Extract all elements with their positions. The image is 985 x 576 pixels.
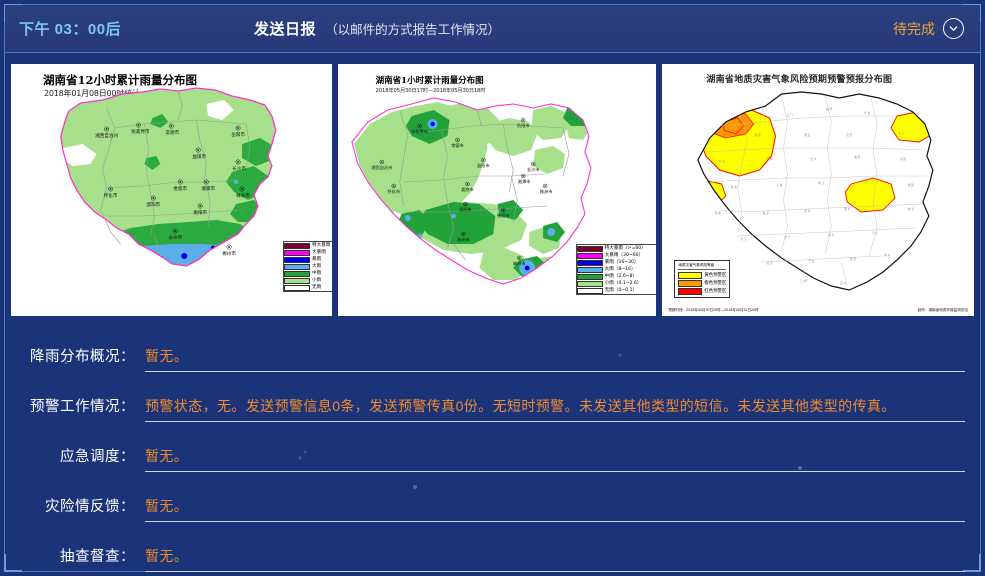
svg-text:邵阳市: 邵阳市 [459, 206, 472, 213]
disaster-feedback-field[interactable]: 暂无。 [145, 496, 965, 522]
map-legend: 特大暴雨（>=60） 大暴雨（30~60） 暴雨（16~30） 大雨（8~16）… [576, 244, 657, 295]
svg-text:常德市: 常德市 [165, 129, 179, 136]
page-title: 发送日报 [254, 18, 316, 39]
svg-text:祁 东: 祁 东 [829, 233, 835, 237]
legend-item: 中雨（2.6~8） [577, 273, 657, 280]
svg-text:株洲市: 株洲市 [540, 188, 553, 195]
legend-item: 橙色预警区 [678, 279, 726, 287]
field-value: 暂无。 [145, 448, 188, 464]
svg-text:湘西自治州: 湘西自治州 [95, 132, 118, 139]
page-subtitle: （以邮件的方式报告工作情况） [325, 19, 500, 38]
svg-text:长 沙: 长 沙 [862, 179, 868, 183]
svg-text:洪 江: 洪 江 [741, 237, 747, 241]
legend-item: 小雨 [284, 277, 332, 284]
legend-label: 小雨 [312, 278, 321, 284]
svg-text:湘 阴: 湘 阴 [855, 155, 861, 159]
map-1h-rainfall[interactable]: 湖南省1小时累计雨量分布图 2018年05月30日17时—2018年05月30日… [338, 64, 657, 316]
svg-text:湘 乡: 湘 乡 [845, 207, 851, 211]
legend-item: 黄色预警区 [678, 271, 726, 279]
chevron-down-circle-icon[interactable] [943, 18, 964, 39]
legend-label: 黄色预警区 [704, 272, 726, 278]
emergency-dispatch-field[interactable]: 暂无。 [145, 446, 965, 472]
svg-text:宁 远: 宁 远 [809, 259, 815, 263]
svg-text:永州市: 永州市 [168, 234, 182, 241]
legend-item: 小雨（0.1~2.6） [577, 280, 657, 287]
svg-text:株洲市: 株洲市 [236, 192, 250, 199]
warning-work-field[interactable]: 预警状态，无。发送预警信息0条，发送预警传真0份。无短时预警。未发送其他类型的短… [145, 396, 965, 422]
task-title-group: 发送日报 （以邮件的方式报告工作情况） [254, 18, 500, 39]
rainfall-overview-field[interactable]: 暂无。 [145, 346, 965, 372]
svg-text:怀化市: 怀化市 [387, 188, 400, 195]
form-row-spot-check: 抽查督查： 暂无。 [0, 522, 985, 572]
svg-text:新 化: 新 化 [805, 209, 811, 213]
legend-label: 红色预警区 [704, 288, 726, 294]
spot-check-field[interactable]: 暂无。 [145, 546, 965, 572]
legend-swatch [577, 253, 603, 259]
legend-swatch [577, 288, 603, 294]
legend-swatch [678, 288, 702, 295]
legend-swatch [284, 278, 310, 284]
svg-text:浏 阳: 浏 阳 [900, 157, 906, 161]
legend-label: 大雨（8~16） [605, 267, 636, 273]
svg-text:沅 陵: 沅 陵 [777, 183, 783, 187]
form-row-emergency-dispatch: 应急调度： 暂无。 [0, 422, 985, 472]
legend-swatch [678, 280, 702, 287]
svg-text:郴州市: 郴州市 [513, 260, 526, 267]
svg-text:汨 罗: 汨 罗 [847, 133, 853, 137]
svg-text:道 县: 道 县 [767, 261, 773, 265]
svg-text:新 宁: 新 宁 [785, 235, 791, 239]
legend-item: 大暴雨（30~60） [577, 252, 657, 259]
svg-text:湘潭市: 湘潭市 [518, 178, 531, 185]
legend-label: 橙色预警区 [704, 280, 726, 286]
legend-swatch [284, 243, 310, 249]
field-label: 抽查督查： [0, 545, 145, 572]
svg-text:桂 阳: 桂 阳 [851, 257, 857, 261]
legend-item: 暴雨 [284, 256, 332, 263]
legend-label: 无雨 [312, 285, 321, 291]
svg-text:邵阳市: 邵阳市 [147, 201, 161, 208]
field-label: 灾险情反馈： [0, 495, 145, 522]
svg-text:攸 县: 攸 县 [908, 207, 914, 211]
map-footer-right: 制作：湖南省地质环境监测总站 [918, 308, 968, 313]
svg-text:临 澧: 临 澧 [827, 107, 833, 111]
svg-text:娄底市: 娄底市 [173, 185, 187, 192]
legend-swatch [577, 274, 603, 280]
svg-text:慈 利: 慈 利 [767, 157, 773, 161]
legend-item: 暴雨（16~30） [577, 259, 657, 266]
legend-swatch [577, 260, 603, 266]
legend-label: 大暴雨 [312, 250, 326, 256]
svg-text:湘潭市: 湘潭市 [201, 185, 215, 192]
svg-text:蓝 山: 蓝 山 [841, 281, 847, 285]
svg-text:衡阳市: 衡阳市 [497, 212, 510, 219]
svg-text:湘西自治州: 湘西自治州 [371, 164, 392, 171]
legend-label: 无雨（0~0.1） [605, 288, 637, 294]
field-value: 暂无。 [145, 348, 188, 364]
svg-text:江 华: 江 华 [801, 279, 807, 283]
maps-strip: 湖南省12小时累计雨量分布图 2018年01月08日00时统计 [11, 64, 974, 316]
legend-swatch [678, 272, 702, 279]
legend-item: 大雨（8~16） [577, 266, 657, 273]
legend-label: 暴雨 [312, 257, 321, 263]
field-value: 预警状态，无。发送预警信息0条，发送预警传真0份。无短时预警。未发送其他类型的短… [145, 398, 896, 414]
field-label: 降雨分布概况： [0, 345, 145, 372]
svg-text:溆 浦: 溆 浦 [763, 211, 769, 215]
field-value: 暂无。 [145, 548, 188, 564]
legend-swatch [284, 271, 310, 277]
svg-text:岳阳市: 岳阳市 [231, 131, 245, 138]
svg-text:怀化市: 怀化市 [104, 192, 118, 199]
legend-label: 小雨（0.1~2.6） [605, 281, 642, 287]
legend-heading: 地质灾害气象风险等级 [678, 263, 726, 270]
task-header: 下午 03：00后 发送日报 （以邮件的方式报告工作情况） 待完成 [5, 5, 980, 53]
task-time-badge: 下午 03：00后 [19, 18, 121, 39]
map-footer-left: 预报时段：2018年05月30日20时—2018年05月31日20时 [668, 308, 758, 313]
legend-label: 中雨（2.6~8） [605, 274, 637, 280]
svg-text:澧 县: 澧 县 [805, 133, 811, 137]
legend-item: 无雨（0~0.1） [577, 287, 657, 294]
form-row-warning-work: 预警工作情况： 预警状态，无。发送预警信息0条，发送预警传真0份。无短时预警。未… [0, 372, 985, 422]
svg-text:桃 江: 桃 江 [819, 181, 825, 185]
legend-label: 特大暴雨（>=60） [605, 246, 646, 252]
map-legend: 特大暴雨 大暴雨 暴雨 大雨 中雨 小雨 无雨 [283, 241, 332, 292]
legend-item: 红色预警区 [678, 287, 726, 295]
svg-text:衡阳市: 衡阳市 [193, 209, 207, 216]
svg-text:资 兴: 资 兴 [884, 253, 890, 257]
legend-label: 暴雨（16~30） [605, 260, 639, 266]
legend-item: 特大暴雨 [284, 242, 332, 249]
svg-text:永州市: 永州市 [457, 236, 470, 243]
legend-item: 无雨 [284, 284, 332, 291]
legend-item: 特大暴雨（>=60） [577, 245, 657, 252]
svg-text:益阳市: 益阳市 [477, 162, 490, 169]
form-row-disaster-feedback: 灾险情反馈： 暂无。 [0, 472, 985, 522]
form-row-rainfall-overview: 降雨分布概况： 暂无。 [0, 322, 985, 372]
field-label: 预警工作情况： [0, 395, 145, 422]
map-legend: 地质灾害气象风险等级 黄色预警区 橙色预警区 红色预警区 [674, 260, 730, 298]
svg-text:凤 凰: 凤 凰 [715, 211, 721, 215]
svg-text:长沙市: 长沙市 [527, 166, 540, 173]
svg-text:张家界市: 张家界市 [411, 128, 428, 135]
legend-swatch [577, 267, 603, 273]
svg-text:常德市: 常德市 [451, 142, 464, 149]
legend-swatch [577, 281, 603, 287]
legend-label: 大雨 [312, 264, 321, 270]
report-form: 降雨分布概况： 暂无。 预警工作情况： 预警状态，无。发送预警信息0条，发送预警… [0, 322, 985, 572]
svg-text:益阳市: 益阳市 [192, 153, 206, 160]
status-group[interactable]: 待完成 [893, 18, 964, 39]
svg-text:岳阳市: 岳阳市 [517, 122, 530, 129]
legend-swatch [284, 285, 310, 291]
legend-item: 中雨 [284, 270, 332, 277]
legend-item: 大雨 [284, 263, 332, 270]
legend-swatch [284, 250, 310, 256]
svg-text:张家界市: 张家界市 [131, 128, 150, 135]
legend-label: 特大暴雨 [312, 243, 330, 249]
field-value: 暂无。 [145, 498, 188, 514]
legend-swatch [284, 257, 310, 263]
svg-text:安 仁: 安 仁 [872, 231, 878, 235]
legend-swatch [577, 246, 603, 252]
svg-text:石 门: 石 门 [787, 113, 793, 117]
status-badge: 待完成 [893, 19, 935, 39]
field-label: 应急调度： [0, 445, 145, 472]
map-12h-rainfall[interactable]: 湖南省12小时累计雨量分布图 2018年01月08日00时统计 [11, 64, 332, 316]
svg-text:娄底市: 娄底市 [461, 186, 474, 193]
svg-text:桑 植: 桑 植 [755, 133, 761, 137]
svg-text:保 靖: 保 靖 [731, 185, 737, 189]
legend-label: 中雨 [312, 271, 321, 277]
svg-text:平 江: 平 江 [898, 131, 904, 135]
svg-text:长沙市: 长沙市 [232, 165, 246, 172]
svg-text:安 乡: 安 乡 [811, 157, 817, 161]
legend-item: 大暴雨 [284, 249, 332, 256]
legend-swatch [284, 264, 310, 270]
svg-text:龙 山: 龙 山 [719, 159, 725, 163]
svg-text:醴 陵: 醴 陵 [908, 183, 914, 187]
svg-text:华 容: 华 容 [864, 111, 870, 115]
map-geo-hazard-risk[interactable]: 湖南省地质灾害气象风险预期预警预报分布图 [662, 64, 974, 316]
svg-text:郴州市: 郴州市 [222, 250, 236, 257]
legend-label: 大暴雨（30~60） [605, 253, 644, 259]
